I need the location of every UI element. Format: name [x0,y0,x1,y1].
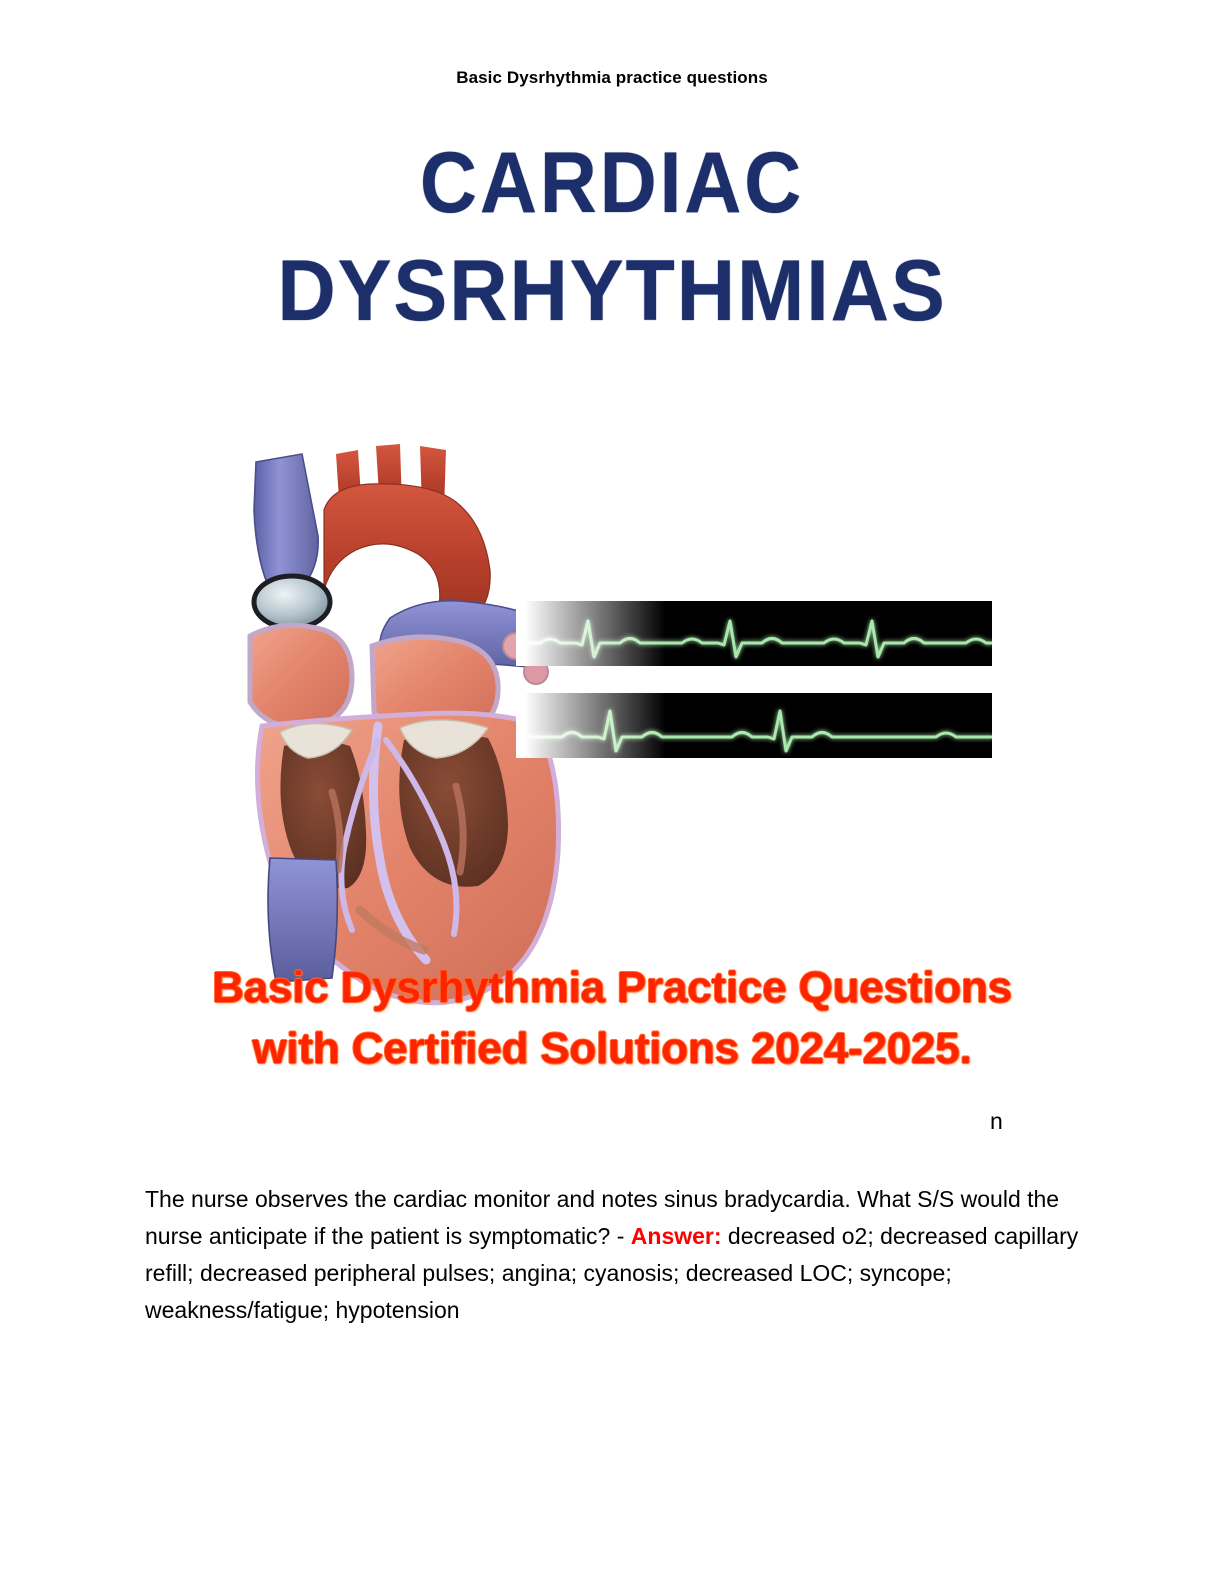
running-header: Basic Dysrhythmia practice questions [0,68,1224,88]
page-title-line-1: Basic Dysrhythmia Practice Questions [0,958,1224,1019]
stray-character: n [990,1110,1003,1133]
wordart-title: CARDIAC DYSRHYTHMIAS [0,140,1224,335]
ecg-strip-bradycardia [516,693,992,758]
page-title: Basic Dysrhythmia Practice Questions wit… [0,958,1224,1079]
wordart-line-cardiac: CARDIAC [49,140,1175,228]
sa-node-marker [254,576,330,628]
answer-label: Answer: [631,1223,722,1249]
ecg-strip-normal-sinus [516,601,992,666]
page-title-line-2: with Certified Solutions 2024-2025. [0,1019,1224,1080]
hero-graphic: CARDIAC DYSRHYTHMIAS [0,140,1224,900]
wordart-line-dysrhythmias: DYSRHYTHMIAS [37,248,1188,336]
question-answer-paragraph: The nurse observes the cardiac monitor a… [145,1181,1080,1329]
